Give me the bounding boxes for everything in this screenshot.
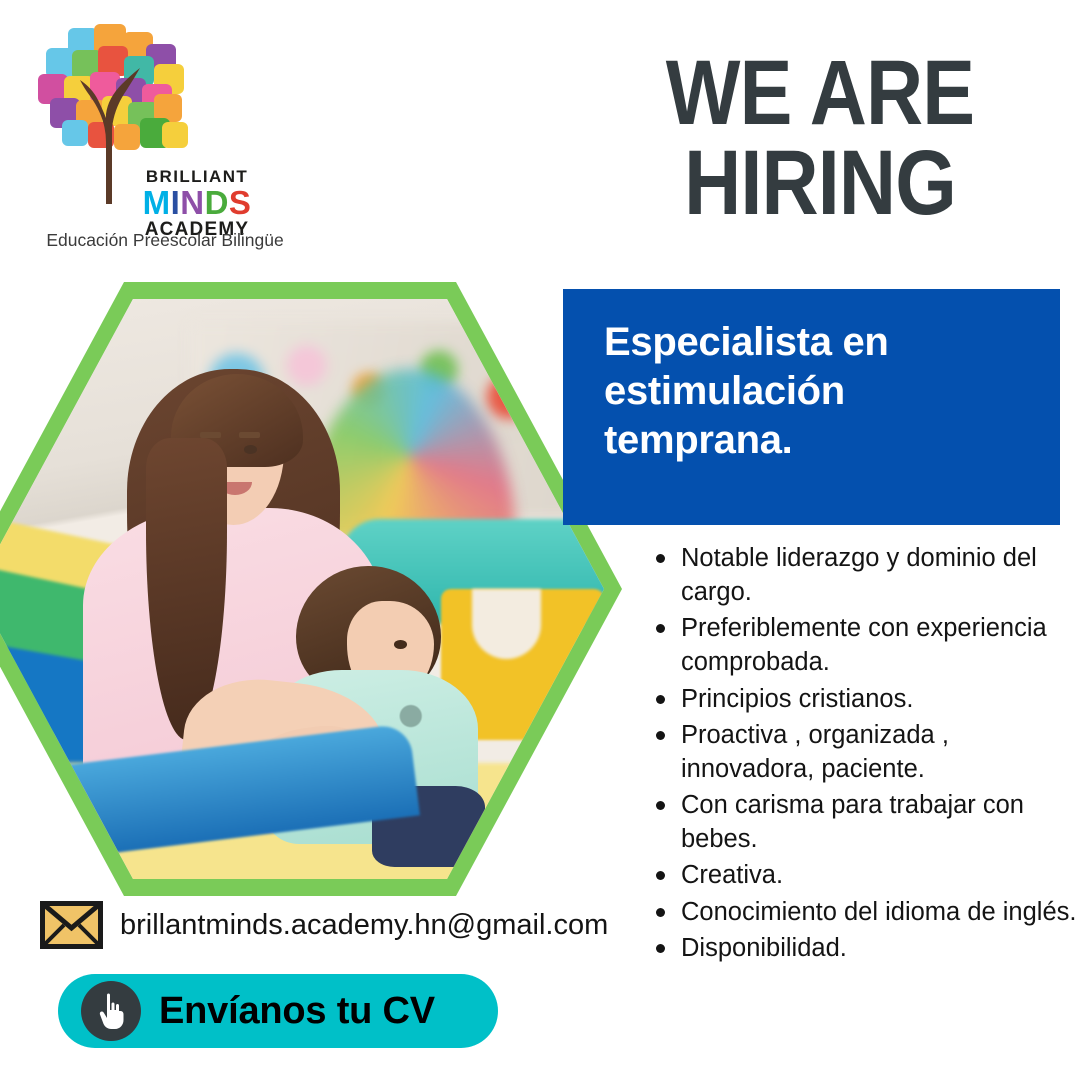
list-item: Conocimiento del idioma de inglés. [681, 895, 1080, 929]
contact-email-row: brillantminds.academy.hn@gmail.com [40, 901, 608, 949]
list-item: Preferiblemente con experiencia comproba… [681, 611, 1080, 679]
headline-line-1: WE ARE [631, 48, 1009, 138]
brand-wordmark: BRILLIANT MINDS ACADEMY [132, 168, 262, 239]
pointing-hand-cursor-icon [81, 981, 141, 1041]
wordmark-minds-letter-n: N [180, 184, 204, 221]
list-item: Notable liderazgo y dominio del cargo. [681, 541, 1080, 609]
list-item: Creativa. [681, 858, 1080, 892]
wordmark-minds-letter-m: M [143, 184, 171, 221]
wordmark-minds-letter-s: S [229, 184, 252, 221]
list-item: Principios cristianos. [681, 682, 1080, 716]
job-title-line-2: estimulación [604, 367, 1034, 416]
photo-frame [0, 282, 622, 896]
wordmark-brilliant: BRILLIANT [132, 168, 262, 185]
headline-line-2: HIRING [631, 138, 1009, 228]
photo-woman-brow-left [200, 432, 221, 437]
photo-woman-brow-right [239, 432, 260, 437]
photo-woman-eye-right [244, 445, 257, 454]
job-title-line-3: temprana. [604, 416, 1034, 465]
list-item: Disponibilidad. [681, 931, 1080, 965]
brand-logo: BRILLIANT MINDS ACADEMY Educación Preesc… [28, 22, 288, 247]
requirements-list: Notable liderazgo y dominio del cargo. P… [643, 541, 1080, 967]
list-item: Con carisma para trabajar con bebes. [681, 788, 1080, 856]
send-cv-label: Envíanos tu CV [159, 990, 435, 1033]
wordmark-minds-letter-d: D [205, 184, 229, 221]
job-title-line-1: Especialista en [604, 318, 1034, 367]
wordmark-minds-letter-i: I [171, 184, 181, 221]
contact-email[interactable]: brillantminds.academy.hn@gmail.com [120, 909, 608, 942]
photo-yellow-notch [472, 589, 541, 659]
photo-baby-eye [394, 640, 407, 649]
job-title-banner: Especialista en estimulación temprana. [563, 289, 1060, 525]
page-title: WE ARE HIRING [631, 48, 1009, 228]
hand-pointer-glyph [94, 992, 128, 1030]
job-title: Especialista en estimulación temprana. [604, 318, 1034, 464]
send-cv-button[interactable]: Envíanos tu CV [58, 974, 498, 1048]
list-item: Proactiva , organizada , innovadora, pac… [681, 718, 1080, 786]
brand-tagline: Educación Preescolar Bilingüe [40, 230, 290, 251]
hiring-poster: BRILLIANT MINDS ACADEMY Educación Preesc… [0, 0, 1080, 1080]
envelope-icon [40, 901, 103, 949]
wordmark-minds: MINDS [132, 186, 262, 219]
specialist-photo [0, 299, 604, 879]
